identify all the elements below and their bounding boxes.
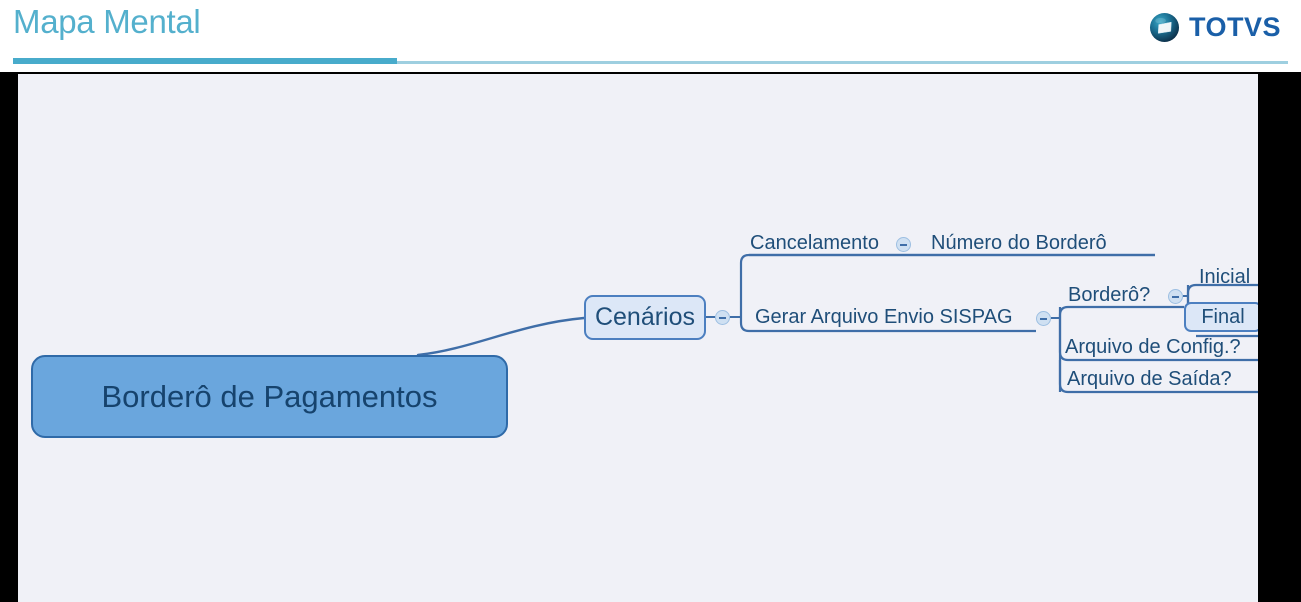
mindmap-branch-node-cenarios[interactable]: Cenários: [584, 295, 706, 340]
mindmap-leaf-arquivo-de-config[interactable]: Arquivo de Config.?: [1065, 336, 1241, 359]
mindmap-frame: Borderô de Pagamentos Cenários Cancelame…: [0, 72, 1301, 602]
mindmap-leaf-numero-do-bordero[interactable]: Número do Borderô: [931, 232, 1107, 255]
header-divider-accent: [13, 58, 397, 64]
page-header: Mapa Mental TOTVS: [0, 0, 1301, 72]
mindmap-topic-gerar-arquivo-envio-sispag[interactable]: Gerar Arquivo Envio SISPAG: [755, 306, 1013, 329]
page-title: Mapa Mental: [13, 3, 200, 41]
mindmap-canvas: Borderô de Pagamentos Cenários Cancelame…: [18, 74, 1258, 602]
mindmap-leaf-inicial[interactable]: Inicial: [1199, 266, 1250, 289]
mindmap-topic-cancelamento[interactable]: Cancelamento: [750, 232, 879, 255]
collapse-minus-icon-bordero[interactable]: [1168, 289, 1183, 304]
mindmap-leaf-arquivo-de-saida[interactable]: Arquivo de Saída?: [1067, 368, 1232, 391]
totvs-sphere-logo-icon: [1149, 12, 1180, 43]
brand-name: TOTVS: [1189, 12, 1281, 43]
collapse-minus-icon-gerar[interactable]: [1036, 311, 1051, 326]
mindmap-leaf-final[interactable]: Final: [1184, 302, 1258, 332]
brand-logo-group: TOTVS: [1149, 12, 1281, 43]
collapse-minus-icon-cancelamento[interactable]: [896, 237, 911, 252]
collapse-minus-icon-cenarios[interactable]: [715, 310, 730, 325]
mindmap-leaf-bordero-question[interactable]: Borderô?: [1068, 284, 1150, 307]
mindmap-root-node[interactable]: Borderô de Pagamentos: [31, 355, 508, 438]
